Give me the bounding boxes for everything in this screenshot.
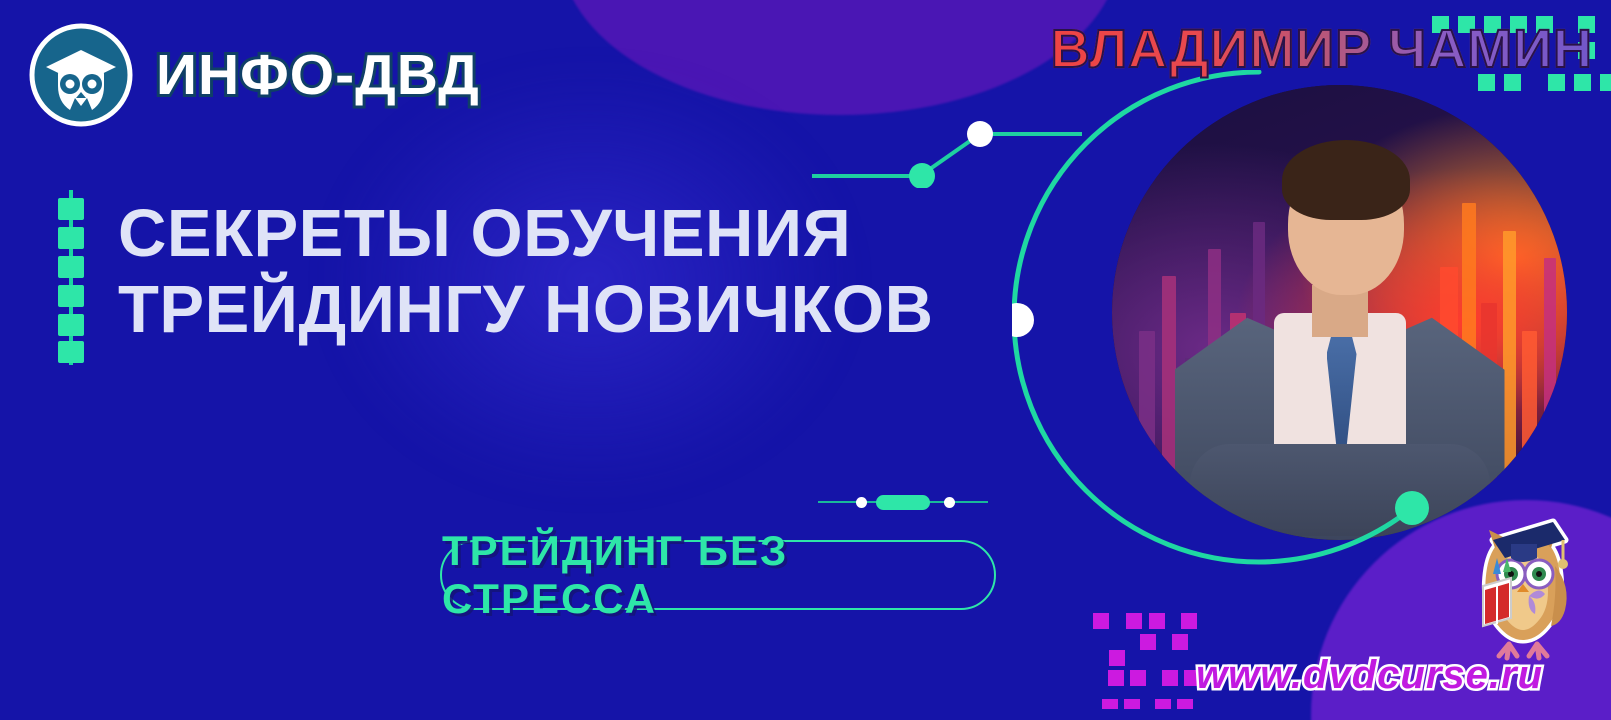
pixel-grid-icon (1140, 634, 1156, 650)
pixel-grid-icon (1108, 670, 1124, 686)
page-title: СЕКРЕТЫ ОБУЧЕНИЯ ТРЕЙДИНГУ НОВИЧКОВ (118, 196, 934, 347)
promo-banner: ИНФО-ДВД СЕКРЕТЫ ОБУЧЕНИЯ ТРЕЙДИНГУ НОВИ… (0, 0, 1611, 720)
brand-name: ИНФО-ДВД (156, 42, 480, 108)
connected-nodes-icon (812, 78, 1082, 188)
pixel-grid-icon (1181, 613, 1197, 629)
pixel-grid-icon (1093, 613, 1109, 629)
speaker-name: ВЛАДИМИР ЧАМИН (1051, 18, 1593, 80)
pixel-grid-icon (1126, 613, 1142, 629)
pixel-grid-icon (1124, 699, 1140, 709)
dot-divider-icon (818, 494, 988, 510)
speaker-portrait (1112, 85, 1567, 540)
candlestick-chart-icon (56, 190, 86, 365)
owl-graduate-icon (28, 22, 134, 128)
pixel-grid-icon (1600, 74, 1611, 91)
pixel-grid-icon (1102, 699, 1118, 709)
pixel-grid-icon (1155, 699, 1171, 709)
pixel-grid-icon (1177, 699, 1193, 709)
pixel-grid-icon (1149, 613, 1165, 629)
pixel-grid-icon (1172, 634, 1188, 650)
owl-mascot-icon (1459, 500, 1587, 668)
person-figure (1112, 85, 1567, 540)
cta-button-label: ТРЕЙДИНГ БЕЗ СТРЕССА (442, 527, 994, 623)
cta-button[interactable]: ТРЕЙДИНГ БЕЗ СТРЕССА (440, 540, 996, 610)
brand-logo[interactable]: ИНФО-ДВД (28, 22, 480, 128)
pixel-grid-icon (1109, 650, 1125, 666)
pixel-grid-icon (1162, 670, 1178, 686)
pixel-grid-icon (1130, 670, 1146, 686)
